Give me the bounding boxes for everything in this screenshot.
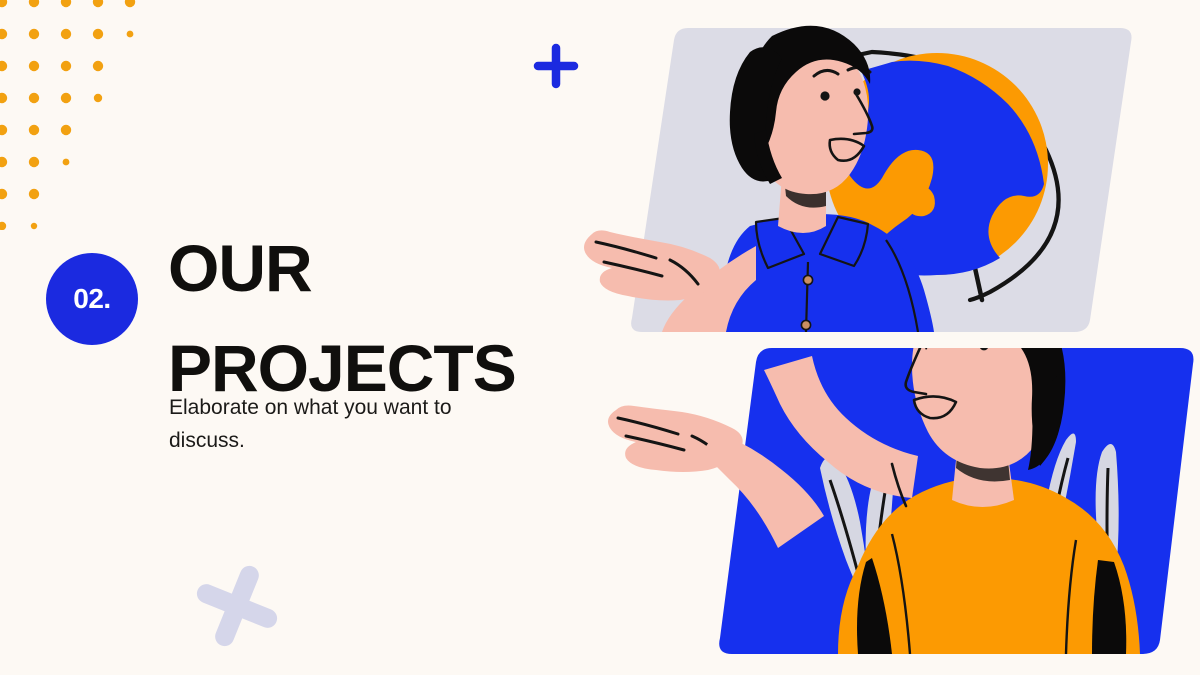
- woman-eye: [820, 91, 829, 100]
- section-number-badge: 02.: [46, 253, 138, 345]
- slide-canvas: 02. OUR PROJECTS Elaborate on what you w…: [0, 0, 1200, 675]
- scene-separator-gap: [520, 332, 1200, 348]
- woman-shirt-button-top: [803, 275, 812, 284]
- page-title: OUR PROJECTS: [168, 218, 568, 419]
- top-scene-woman-with-globe: [584, 26, 1132, 332]
- illustration-two-people-presenting-globe: [520, 0, 1200, 675]
- section-number-text: 02.: [73, 283, 110, 315]
- globe-land-small: [906, 186, 935, 216]
- cross-icon: [188, 557, 286, 655]
- woman-eye-second: [853, 88, 860, 95]
- dot-grid-decoration: [0, 0, 170, 230]
- page-subtitle: Elaborate on what you want to discuss.: [169, 392, 514, 457]
- woman-shirt-button-bottom: [801, 320, 810, 329]
